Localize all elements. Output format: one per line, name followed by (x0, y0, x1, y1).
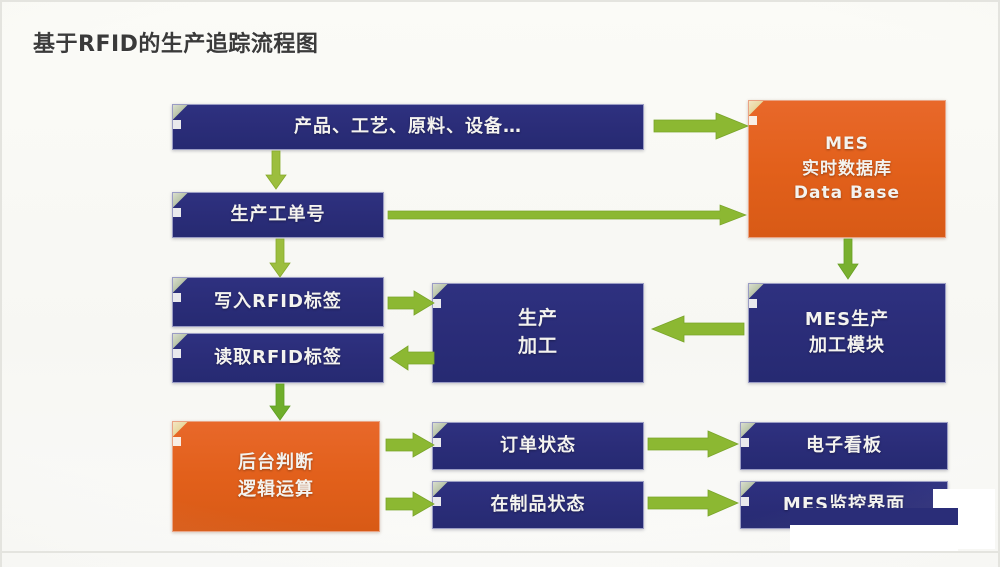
corner-notch (740, 497, 749, 506)
corner-notch (748, 299, 757, 308)
corner-notch (172, 437, 181, 446)
arrow-work-order-to-write-rfid-tag (268, 239, 292, 279)
node-label-line: 实时数据库 (794, 157, 900, 182)
node-label-group: 订单状态 (500, 433, 576, 459)
node-work-order: 生产工单号 (172, 192, 384, 238)
corner-fold-icon (172, 277, 189, 294)
node-inputs: 产品、工艺、原料、设备… (172, 104, 644, 150)
corner-fold-icon (172, 104, 189, 121)
arrow-order-status-to-electronic-kanban (648, 430, 740, 458)
node-label-line: 后台判断 (238, 450, 314, 476)
node-label-group: 读取RFID标签 (214, 345, 342, 371)
arrow-production-to-read-rfid-tag (388, 345, 436, 371)
arrow-mes-database-to-mes-module (836, 239, 860, 281)
node-label-line: Data Base (794, 181, 900, 206)
arrow-write-rfid-tag-to-production (388, 290, 436, 316)
corner-fold-icon (172, 333, 189, 350)
node-mes-database: MES 实时数据库 Data Base (748, 100, 946, 238)
node-label-group: 在制品状态 (491, 492, 586, 518)
node-order-status: 订单状态 (432, 422, 644, 470)
corner-fold-icon (748, 283, 765, 300)
arrow-inputs-to-mes-database (654, 112, 750, 140)
corner-notch (172, 349, 181, 358)
arrow-work-order-to-mes-database (388, 203, 748, 227)
arrow-backend-logic-to-order-status (386, 432, 436, 458)
node-backend-logic: 后台判断 逻辑运算 (172, 421, 380, 532)
arrow-read-rfid-tag-to-backend-logic (268, 384, 292, 422)
corner-notch (740, 438, 749, 447)
node-label-line: 电子看板 (806, 433, 882, 459)
corner-notch (172, 293, 181, 302)
frame-bottom-line (0, 551, 1000, 553)
node-electronic-kanban: 电子看板 (740, 422, 948, 470)
node-label-group: 写入RFID标签 (214, 289, 342, 315)
corner-fold-icon (172, 421, 189, 438)
node-label-line: 逻辑运算 (238, 477, 314, 503)
node-label-group: MES生产 加工模块 (805, 307, 889, 359)
arrow-inputs-to-work-order (264, 151, 288, 191)
node-label-group: 生产 加工 (518, 305, 558, 360)
node-label-line: MES (794, 132, 900, 157)
node-production-processing: 生产 加工 (432, 283, 644, 383)
node-label-group: MES 实时数据库 Data Base (794, 132, 900, 206)
flowchart-canvas: 基于RFID的生产追踪流程图 产品、工艺、原料、设备… MES 实时数据库 Da… (0, 0, 1000, 567)
node-read-rfid-tag: 读取RFID标签 (172, 333, 384, 383)
node-label-line: 产品、工艺、原料、设备… (294, 114, 522, 140)
capture-artifact-white-bottom (790, 525, 958, 552)
node-label-group: 生产工单号 (231, 202, 326, 228)
node-label-line: 加工 (518, 333, 558, 361)
frame-left-line (0, 0, 2, 567)
arrow-mes-module-to-production (650, 315, 746, 343)
node-label-group: 产品、工艺、原料、设备… (294, 114, 522, 140)
frame-top-line (0, 0, 1000, 2)
node-label-line: 在制品状态 (491, 492, 586, 518)
page-title: 基于RFID的生产追踪流程图 (33, 26, 318, 58)
corner-notch (172, 120, 181, 129)
node-label-group: 后台判断 逻辑运算 (238, 450, 314, 502)
arrow-backend-logic-to-wip-status (386, 491, 436, 517)
node-label-line: MES生产 (805, 307, 889, 333)
node-label-group: 电子看板 (806, 433, 882, 459)
node-label-line: 读取RFID标签 (214, 345, 342, 371)
node-mes-production-module: MES生产 加工模块 (748, 283, 946, 383)
arrow-wip-status-to-mes-monitor-ui (648, 489, 740, 517)
corner-notch (172, 208, 181, 217)
node-label-line: 生产工单号 (231, 202, 326, 228)
node-label-line: 生产 (518, 305, 558, 333)
corner-fold-icon (740, 422, 757, 439)
node-wip-status: 在制品状态 (432, 481, 644, 529)
corner-fold-icon (748, 100, 765, 117)
node-write-rfid-tag: 写入RFID标签 (172, 277, 384, 327)
corner-fold-icon (740, 481, 757, 498)
node-label-line: 写入RFID标签 (214, 289, 342, 315)
node-label-line: 加工模块 (805, 333, 889, 359)
capture-artifact-navy-bar (790, 508, 958, 525)
corner-fold-icon (172, 192, 189, 209)
node-label-line: 订单状态 (500, 433, 576, 459)
